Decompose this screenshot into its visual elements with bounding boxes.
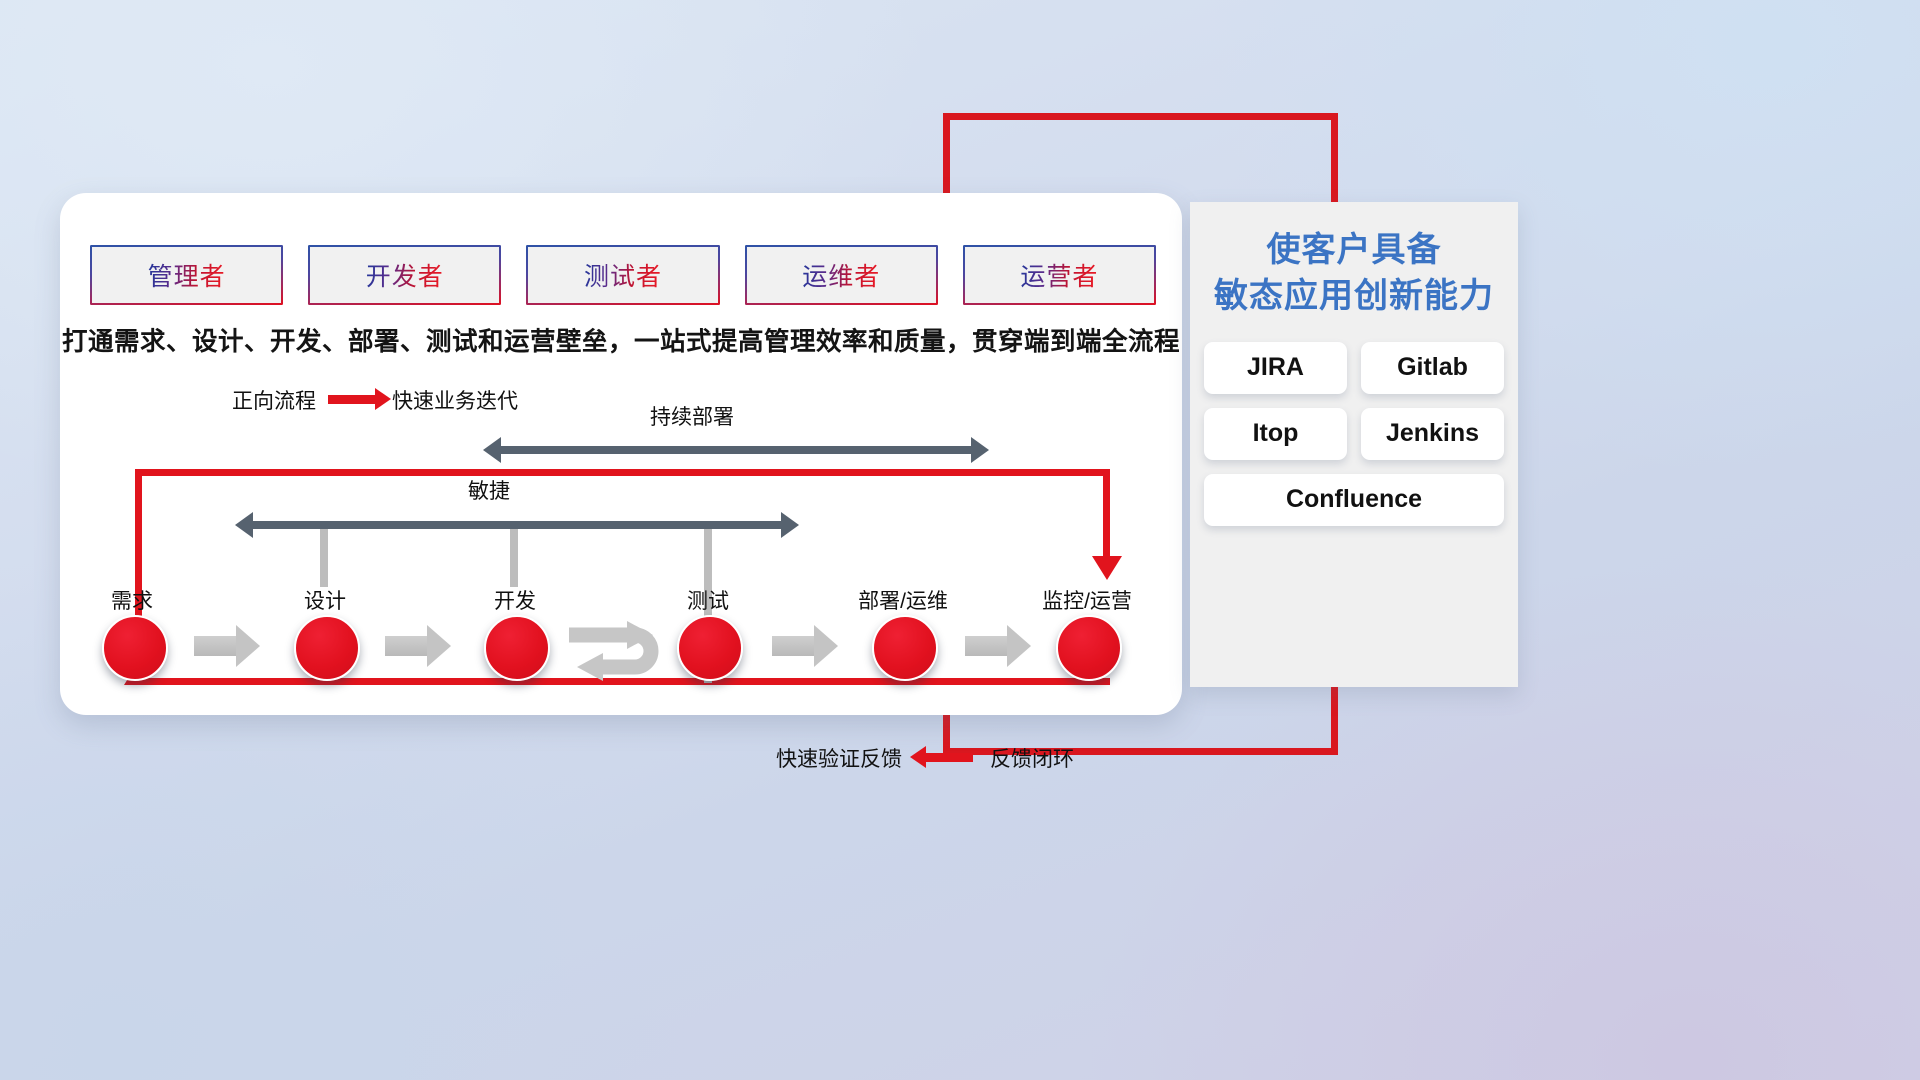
feedback-arrow-icon: [925, 753, 973, 762]
forward-flow-right-label: 快速业务迭代: [392, 385, 518, 415]
stage-label-2: 开发: [494, 585, 536, 615]
stage-label-5: 监控/运营: [1042, 585, 1132, 615]
flow-diagram: 正向流程 快速业务迭代 持续部署 敏捷 需求 设计 开发 测试 部署/: [60, 373, 1182, 713]
arrow-head-left: [235, 512, 253, 538]
arrow-body: [194, 636, 238, 656]
arrow-body: [772, 636, 816, 656]
feedback-right-label: 反馈闭环: [990, 743, 1074, 773]
stage-circle-2[interactable]: [484, 615, 550, 681]
stage-connector-design: [320, 529, 328, 587]
continuous-deploy-label: 持续部署: [650, 401, 734, 431]
tool-chip-jenkins[interactable]: Jenkins: [1361, 408, 1504, 460]
role-box-0[interactable]: 管理者: [90, 245, 283, 305]
panel-title-line1: 使客户具备: [1200, 228, 1508, 274]
stage-circle-5[interactable]: [1056, 615, 1122, 681]
role-label: 运营者: [1020, 257, 1098, 293]
role-label: 测试者: [584, 257, 662, 293]
stage-connector-develop: [510, 529, 518, 587]
stage-label-3: 测试: [687, 585, 729, 615]
stage-circle-3[interactable]: [677, 615, 743, 681]
arrow-body: [965, 636, 1009, 656]
arrow-head-left: [483, 437, 501, 463]
tool-chip-gitlab[interactable]: Gitlab: [1361, 342, 1504, 394]
tool-chip-list: JIRA Gitlab Itop Jenkins Confluence: [1190, 324, 1518, 526]
arrow-tip: [427, 625, 451, 667]
arrow-tip: [814, 625, 838, 667]
panel-title-wrap: 使客户具备 敏态应用创新能力: [1190, 202, 1518, 324]
description-text: 打通需求、设计、开发、部署、测试和运营壁垒，一站式提高管理效率和质量，贯穿端到端…: [60, 321, 1182, 358]
main-card: 管理者 开发者 测试者 运维者 运营者 打通需求、设计、开发、部署、测试和运营壁…: [60, 193, 1182, 715]
arrow-head-right: [971, 437, 989, 463]
role-label: 开发者: [366, 257, 444, 293]
continuous-deploy-arrow-icon: [500, 446, 972, 454]
stage-connector-test: [704, 529, 712, 587]
stage-label-4: 部署/运维: [858, 585, 948, 615]
stage-label-1: 设计: [304, 585, 346, 615]
arrow-body: [385, 636, 429, 656]
role-label: 管理者: [148, 257, 226, 293]
iteration-loop-arrow-icon: [565, 613, 670, 687]
agile-label: 敏捷: [468, 475, 510, 505]
arrow-head-right: [781, 512, 799, 538]
role-box-4[interactable]: 运营者: [963, 245, 1156, 305]
loop-right-arrow-head-icon: [1092, 556, 1122, 580]
forward-flow-arrow-icon: [328, 395, 376, 404]
role-box-3[interactable]: 运维者: [745, 245, 938, 305]
forward-flow-left-label: 正向流程: [232, 385, 316, 415]
loop-top-segment: [135, 469, 1110, 476]
tool-chip-confluence[interactable]: Confluence: [1204, 474, 1504, 526]
tools-panel: 使客户具备 敏态应用创新能力 JIRA Gitlab Itop Jenkins …: [1190, 202, 1518, 687]
role-box-2[interactable]: 测试者: [526, 245, 719, 305]
stage-circle-4[interactable]: [872, 615, 938, 681]
arrow-tip: [1007, 625, 1031, 667]
stage-circle-0[interactable]: [102, 615, 168, 681]
tool-chip-itop[interactable]: Itop: [1204, 408, 1347, 460]
role-label: 运维者: [802, 257, 880, 293]
tool-chip-jira[interactable]: JIRA: [1204, 342, 1347, 394]
loop-right-segment: [1103, 469, 1110, 560]
panel-title-line2: 敏态应用创新能力: [1200, 274, 1508, 320]
stage-label-0: 需求: [111, 585, 153, 615]
arrow-tip: [236, 625, 260, 667]
feedback-left-label: 快速验证反馈: [776, 743, 902, 773]
stage-circle-1[interactable]: [294, 615, 360, 681]
role-box-1[interactable]: 开发者: [308, 245, 501, 305]
role-box-row: 管理者 开发者 测试者 运维者 运营者: [90, 245, 1156, 305]
agile-arrow-icon: [252, 521, 782, 529]
